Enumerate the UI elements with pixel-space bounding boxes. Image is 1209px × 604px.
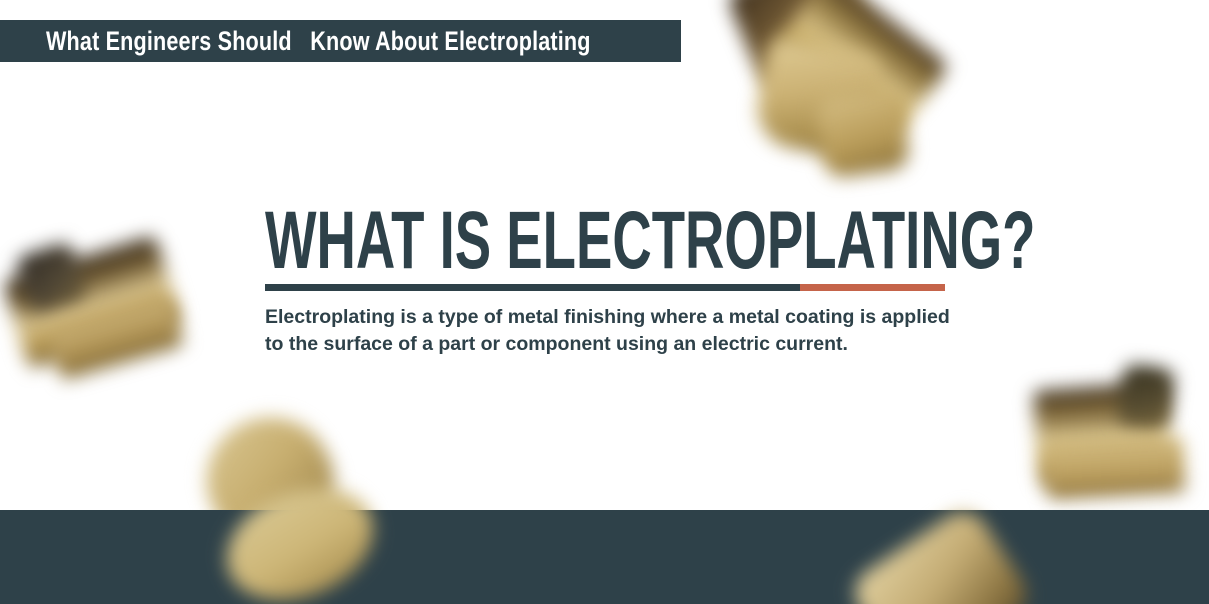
title-divider-left-segment [265, 284, 800, 291]
brass-fitting-right-b [1116, 363, 1176, 432]
brass-fitting-center-b-overlay [210, 510, 390, 604]
main-content: WHAT IS ELECTROPLATING? Electroplating i… [265, 205, 965, 277]
brass-fitting-bottom-right-overlay [845, 510, 1036, 604]
slide-canvas: What Engineers Should Know About Electro… [0, 0, 1209, 604]
header-ribbon-title: What Engineers Should Know About Electro… [46, 28, 591, 55]
title-divider [265, 284, 945, 291]
page-title: WHAT IS ELECTROPLATING? [265, 205, 731, 277]
brass-fitting-right-c [1045, 436, 1186, 499]
brass-fitting-top-right-d [815, 86, 912, 179]
body-paragraph: Electroplating is a type of metal finish… [265, 304, 955, 358]
footer-band-decor-layer [0, 510, 1209, 604]
header-ribbon: What Engineers Should Know About Electro… [0, 20, 681, 62]
title-divider-right-segment [800, 284, 945, 291]
